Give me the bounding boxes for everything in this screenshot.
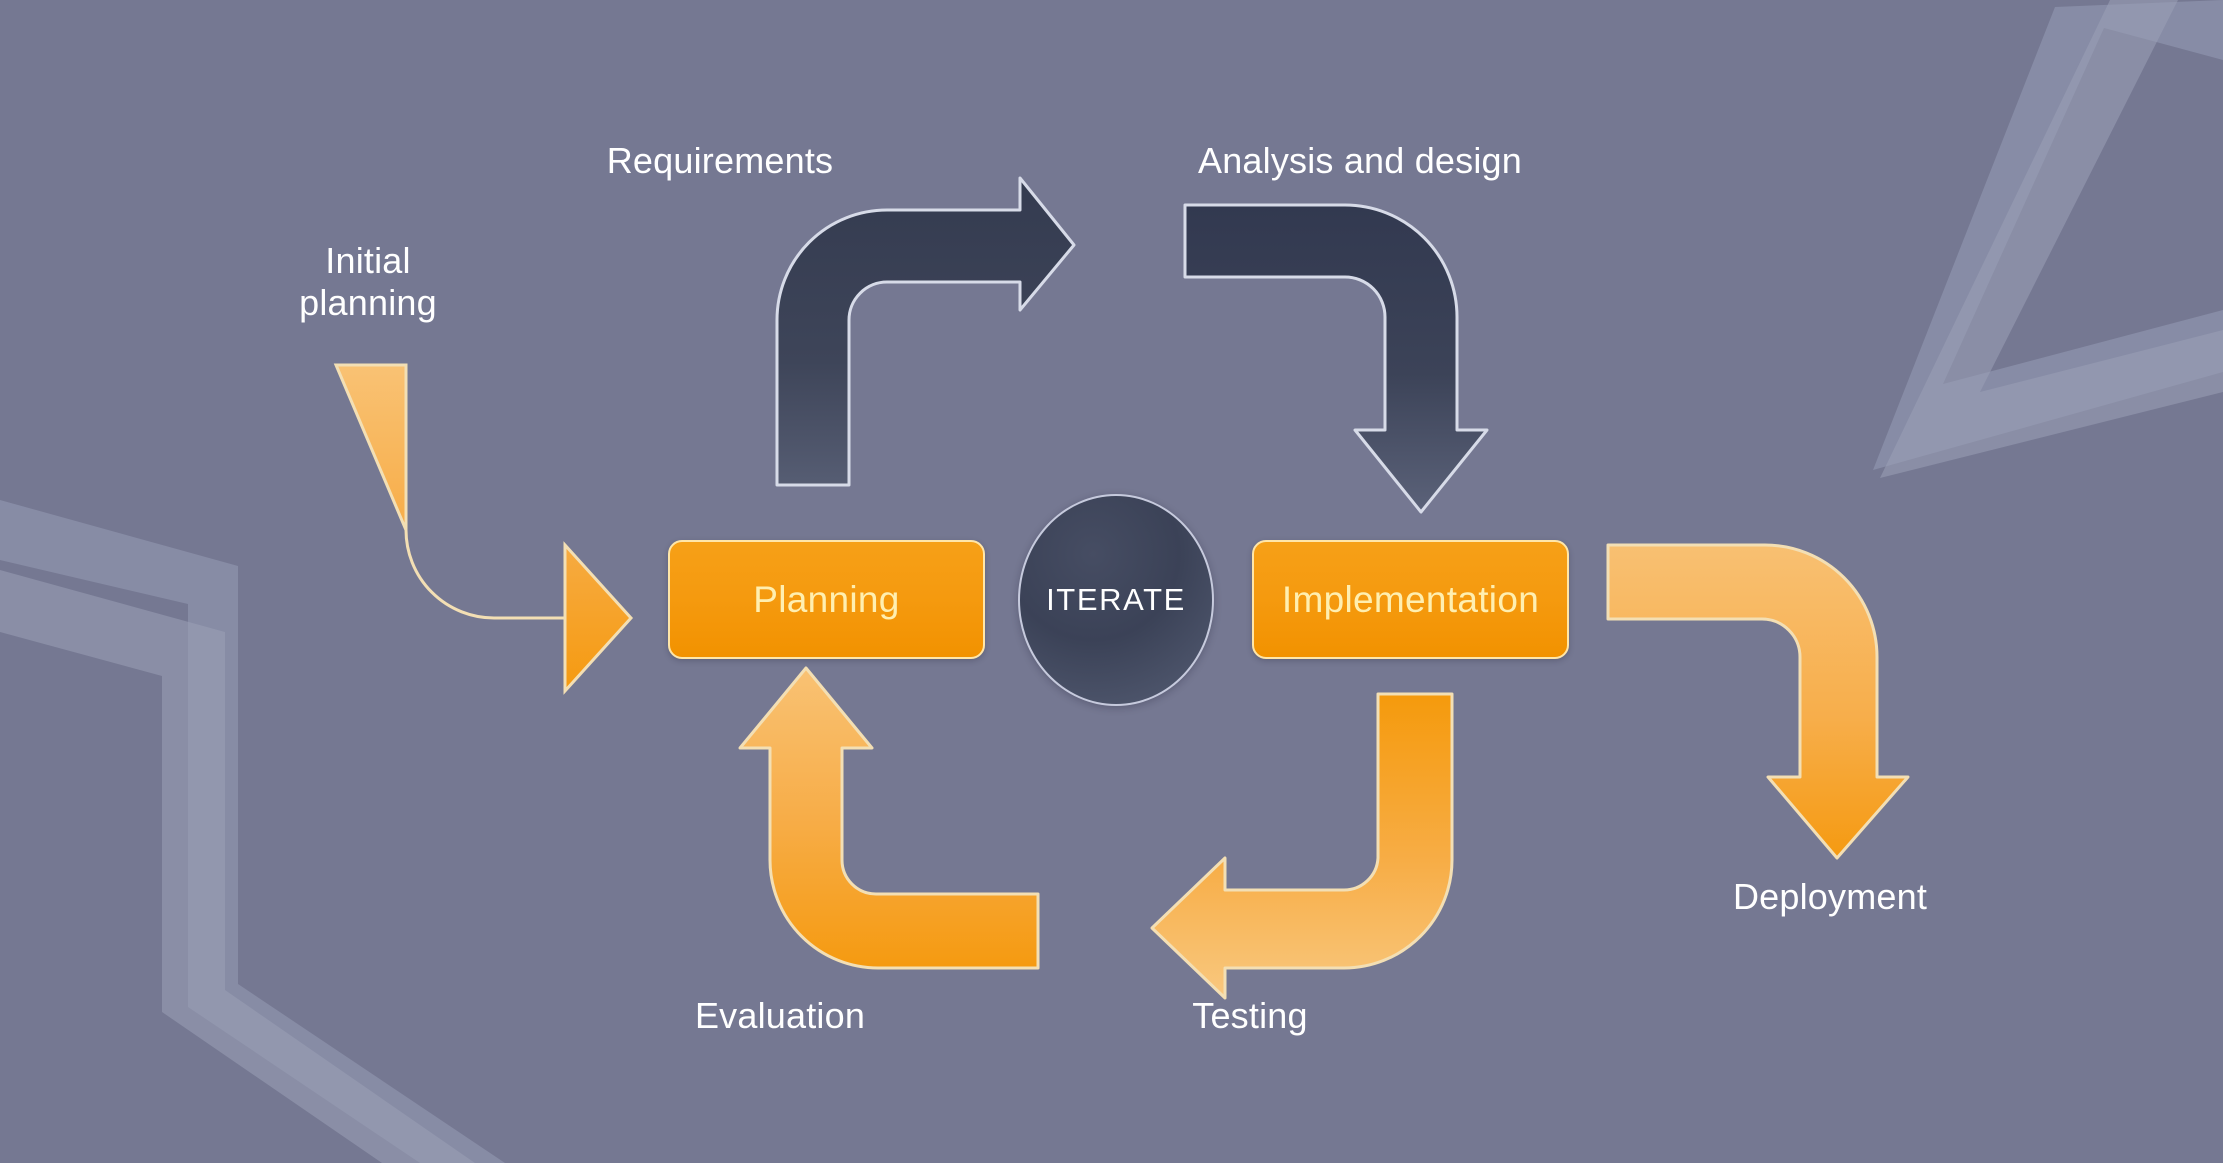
analysis-and-design-arrow bbox=[1185, 205, 1487, 512]
node-implementation-label: Implementation bbox=[1282, 579, 1539, 621]
node-planning-label: Planning bbox=[753, 579, 899, 621]
node-iterate-label: ITERATE bbox=[1046, 582, 1186, 618]
evaluation-arrow bbox=[740, 668, 1038, 968]
deployment-arrow bbox=[1608, 545, 1908, 858]
node-implementation[interactable]: Implementation bbox=[1252, 540, 1569, 659]
diagram-canvas: Initial planning Requirements Analysis a… bbox=[0, 0, 2223, 1163]
requirements-arrow bbox=[777, 178, 1074, 485]
node-iterate[interactable]: ITERATE bbox=[1018, 494, 1214, 706]
testing-arrow bbox=[1152, 694, 1452, 998]
node-planning[interactable]: Planning bbox=[668, 540, 985, 659]
